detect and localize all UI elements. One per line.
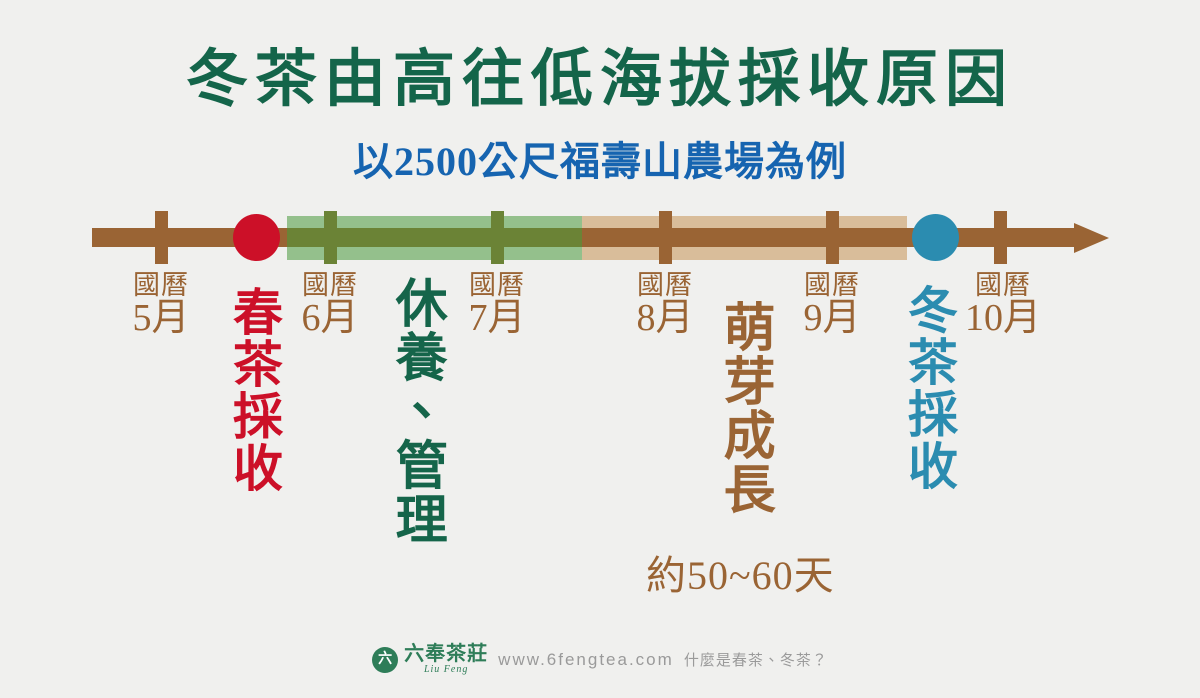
footer-website-url[interactable]: www.6fengtea.com: [498, 650, 674, 670]
month-number-august: 8月: [625, 299, 705, 339]
phase-label-rest-manage: 休養、管理: [388, 276, 442, 546]
month-label-may: 國曆 5月: [121, 272, 201, 339]
phase-label-spring-harvest: 春茶採收: [228, 286, 280, 494]
brand-wordmark: 六奉茶莊 Liu Feng: [404, 644, 488, 675]
month-era-october: 國曆: [958, 272, 1048, 299]
brand-name-en: Liu Feng: [424, 665, 468, 675]
month-era-june: 國曆: [290, 272, 370, 299]
growth-duration-annotation: 約50~60天: [646, 543, 835, 601]
infographic-canvas: 冬茶由高往低海拔採收原因 以2500公尺福壽山農場為例 國曆 5月 國曆 6月: [0, 0, 1200, 698]
brand-logo[interactable]: 六 六奉茶莊 Liu Feng: [372, 644, 488, 675]
tick-mark-september: [826, 211, 839, 264]
tick-mark-may: [155, 211, 168, 264]
tick-mark-june: [324, 211, 337, 264]
brand-name-cn: 六奉茶莊: [404, 644, 488, 664]
phase-label-winter-harvest: 冬茶採收: [903, 284, 955, 492]
month-label-october: 國曆 10月: [958, 272, 1048, 339]
month-era-may: 國曆: [121, 272, 201, 299]
footer-tagline: 什麼是春茶、冬茶？: [684, 649, 828, 670]
footer: 六 六奉茶莊 Liu Feng www.6fengtea.com 什麼是春茶、冬…: [0, 644, 1200, 675]
spring-harvest-node[interactable]: [233, 214, 280, 261]
month-label-july: 國曆 7月: [457, 272, 537, 339]
month-era-august: 國曆: [625, 272, 705, 299]
timeline: 國曆 5月 國曆 6月 國曆 7月 國曆 8月 國曆 9月 國曆 10月: [0, 0, 1200, 698]
tick-mark-august: [659, 211, 672, 264]
month-number-july: 7月: [457, 299, 537, 339]
month-number-september: 9月: [792, 299, 872, 339]
month-number-may: 5月: [121, 299, 201, 339]
month-label-june: 國曆 6月: [290, 272, 370, 339]
phase-label-bud-growth: 萌芽成長: [716, 300, 770, 516]
month-era-july: 國曆: [457, 272, 537, 299]
tick-mark-october: [994, 211, 1007, 264]
tick-mark-july: [491, 211, 504, 264]
liufeng-seal-icon: 六: [372, 647, 398, 673]
month-number-june: 6月: [290, 299, 370, 339]
winter-harvest-node[interactable]: [912, 214, 959, 261]
month-era-september: 國曆: [792, 272, 872, 299]
month-number-october: 10月: [958, 299, 1048, 339]
month-label-august: 國曆 8月: [625, 272, 705, 339]
month-label-september: 國曆 9月: [792, 272, 872, 339]
arrow-right-icon: [1074, 223, 1109, 253]
